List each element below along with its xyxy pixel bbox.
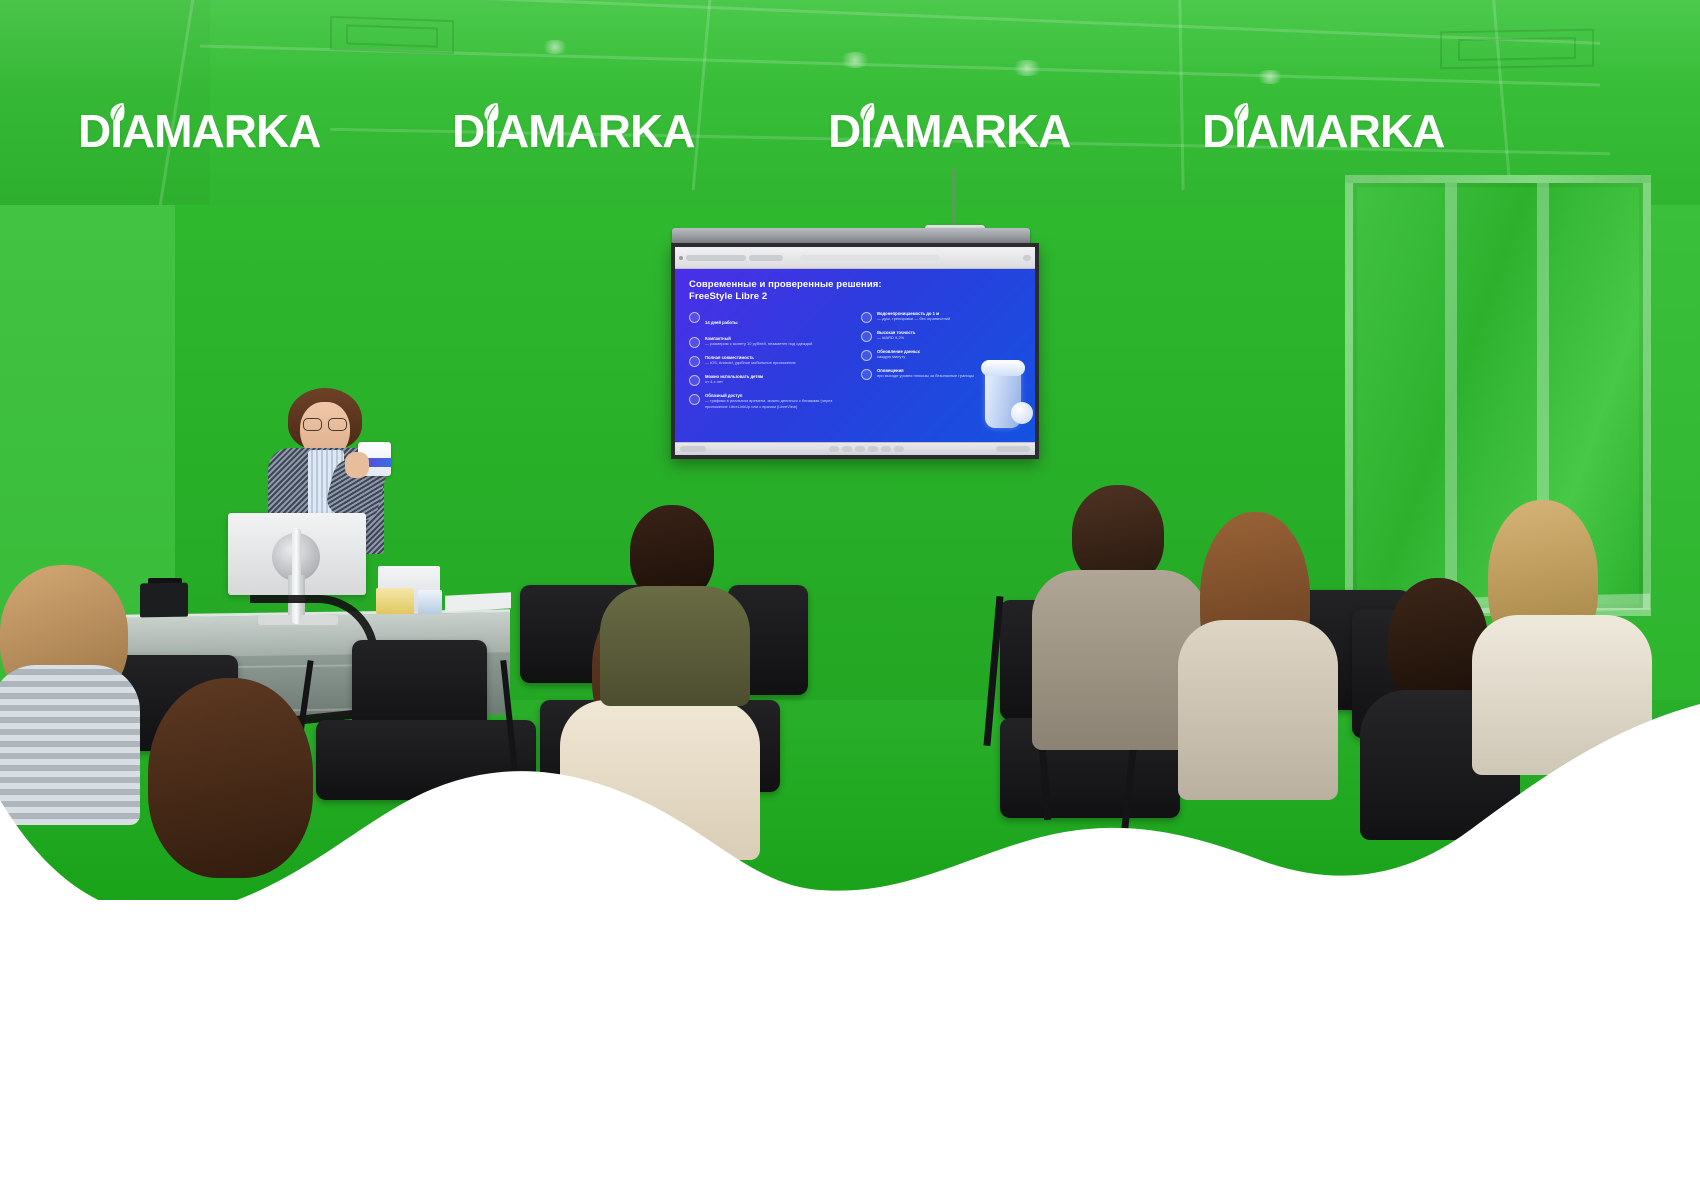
ceiling-vent bbox=[1458, 37, 1576, 61]
logo-letters-rest: AMARKA bbox=[122, 104, 320, 158]
calendar-icon bbox=[689, 312, 700, 323]
office-chair bbox=[316, 720, 536, 800]
ceiling-light bbox=[1010, 60, 1044, 76]
sensor-icon bbox=[689, 337, 700, 348]
ceiling-light bbox=[838, 52, 872, 68]
bullet-text: — MARD 9,2% bbox=[877, 335, 915, 340]
brand-logo: DIAMARKA bbox=[78, 100, 320, 162]
bullet-text: от 4-х лет bbox=[705, 379, 763, 384]
product-device-image bbox=[977, 356, 1029, 434]
logo-letters-rest: AMARKA bbox=[496, 104, 694, 158]
slide-title-line-2: FreeStyle Libre 2 bbox=[689, 291, 1023, 303]
leaf-icon bbox=[858, 102, 875, 124]
slide-bullet: Облачный доступ — графики в реальном вре… bbox=[689, 393, 851, 409]
logo-letter-d: D bbox=[78, 104, 110, 158]
bullet-heading: 14 дней работы bbox=[705, 320, 738, 325]
bullet-text: каждую минуту bbox=[877, 354, 920, 359]
child-icon bbox=[689, 375, 700, 386]
brand-logo: DIAMARKA bbox=[828, 100, 1070, 162]
browser-tab-dot bbox=[679, 256, 683, 260]
ceiling-vent bbox=[346, 24, 438, 47]
browser-tab bbox=[686, 255, 746, 261]
bullet-text: — душ, тренировки — без ограничений bbox=[877, 316, 950, 321]
slide-bullet: Высокая точность — MARD 9,2% bbox=[861, 330, 1023, 342]
sensor-disc bbox=[1011, 402, 1033, 424]
presentation-slide: Современные и проверенные решения: FreeS… bbox=[675, 269, 1035, 442]
bullet-text: — iOS, Android, удобное мобильное прилож… bbox=[705, 360, 796, 365]
bullet-text: при выходе уровня глюкозы за безопасные … bbox=[877, 373, 974, 378]
browser-chrome bbox=[675, 247, 1035, 269]
projector-mount bbox=[952, 168, 956, 228]
bullet-text: — графики в реальном времени, можно дели… bbox=[705, 398, 851, 408]
logo-letter-d: D bbox=[1202, 104, 1234, 158]
phone-icon bbox=[689, 356, 700, 367]
ceiling-light bbox=[1255, 70, 1285, 84]
slide-bullet: 14 дней работы bbox=[689, 311, 851, 329]
promo-banner: Современные и проверенные решения: FreeS… bbox=[0, 0, 1700, 1200]
slide-bullet: Водонепроницаемость до 1 м — душ, тренир… bbox=[861, 311, 1023, 323]
browser-tab bbox=[749, 255, 783, 261]
slide-left-column: 14 дней работы Компактный — размером с м… bbox=[689, 311, 851, 409]
product-box-blue bbox=[418, 590, 442, 614]
browser-address-bar bbox=[800, 255, 940, 261]
brand-logo: DIAMARKA bbox=[1202, 100, 1444, 162]
leaf-icon bbox=[482, 102, 499, 124]
slide-bullet: Можно использовать детям от 4-х лет bbox=[689, 374, 851, 386]
logo-letters-rest: AMARKA bbox=[1246, 104, 1444, 158]
logo-letter-d: D bbox=[452, 104, 484, 158]
leaf-icon bbox=[108, 102, 125, 124]
slide-title: Современные и проверенные решения: FreeS… bbox=[689, 279, 1023, 302]
alert-icon bbox=[861, 369, 872, 380]
screen-rail bbox=[672, 228, 1030, 244]
leaf-icon bbox=[1232, 102, 1249, 124]
water-drop-icon bbox=[861, 312, 872, 323]
cloud-icon bbox=[689, 394, 700, 405]
ceiling-light bbox=[540, 40, 570, 54]
logo-strip: DIAMARKA DIAMARKA DIAMARKA DIAMARKA bbox=[0, 100, 1700, 162]
bullet-text: — размером с монету 10 рублей, незаметен… bbox=[705, 341, 812, 346]
brand-logo: DIAMARKA bbox=[452, 100, 694, 162]
browser-toolbar bbox=[675, 442, 1035, 455]
slide-bullet: Полная совместимость — iOS, Android, удо… bbox=[689, 355, 851, 367]
slide-bullet: Компактный — размером с монету 10 рублей… bbox=[689, 336, 851, 348]
accuracy-icon bbox=[861, 331, 872, 342]
browser-menu-icon bbox=[1023, 255, 1031, 261]
slide-title-line-1: Современные и проверенные решения: bbox=[689, 279, 1023, 291]
eyeglasses bbox=[303, 418, 347, 429]
clock-icon bbox=[861, 350, 872, 361]
projection-screen: Современные и проверенные решения: FreeS… bbox=[671, 243, 1039, 459]
logo-letters-rest: AMARKA bbox=[872, 104, 1070, 158]
logo-letter-d: D bbox=[828, 104, 860, 158]
